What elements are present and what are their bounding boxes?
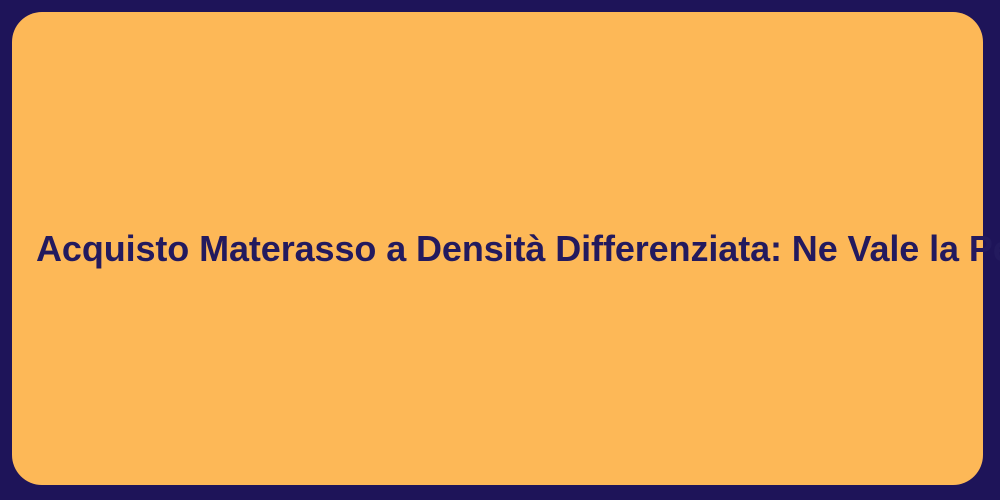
title-card: Acquisto Materasso a Densità Differenzia… bbox=[12, 12, 983, 485]
page-root: Acquisto Materasso a Densità Differenzia… bbox=[0, 0, 1000, 500]
page-title: Acquisto Materasso a Densità Differenzia… bbox=[12, 226, 983, 271]
